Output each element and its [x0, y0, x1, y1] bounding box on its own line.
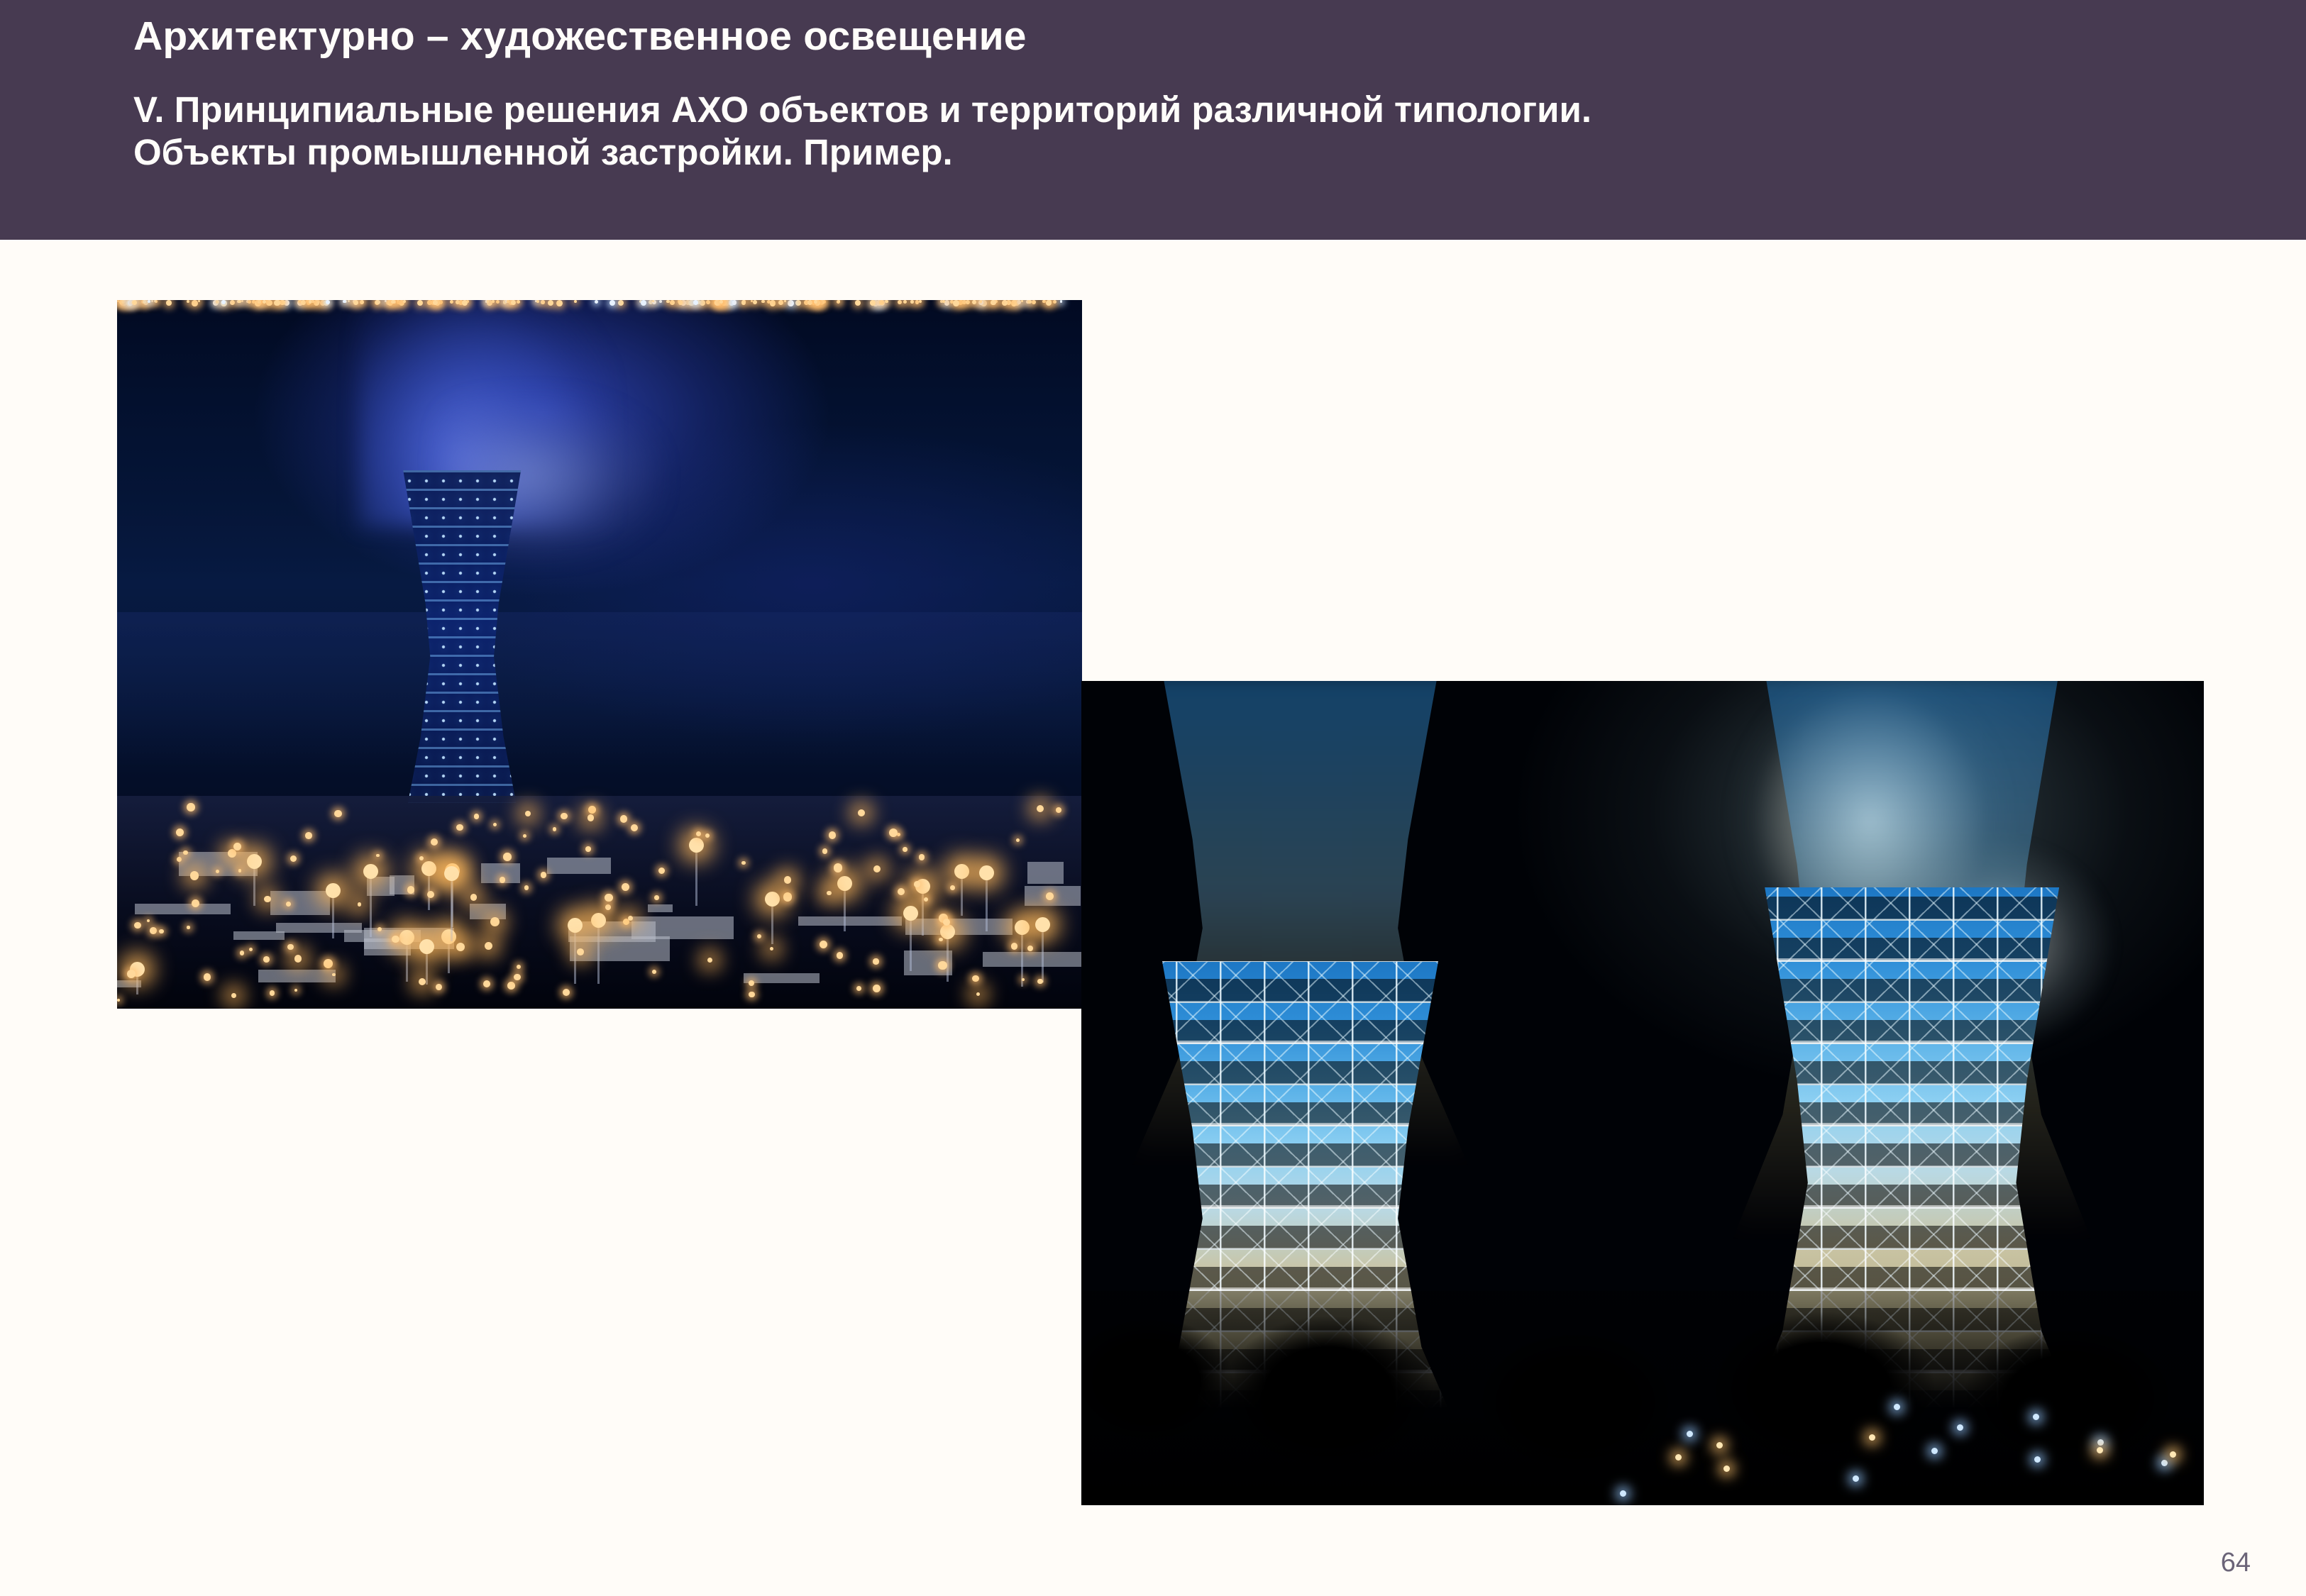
street-light-point: [707, 958, 712, 963]
city-light: [487, 300, 490, 303]
city-light: [609, 300, 615, 306]
city-light: [919, 300, 922, 303]
city-light: [666, 300, 669, 303]
city-light: [706, 300, 710, 304]
street-light-point: [622, 883, 629, 891]
street-light-point: [749, 992, 755, 998]
street-lamp: [370, 872, 372, 937]
street-lamp: [771, 900, 773, 944]
street-lamp: [910, 914, 912, 972]
city-light: [761, 300, 764, 303]
street-light-point: [524, 885, 529, 890]
ground-light: [1869, 1434, 1875, 1441]
street-light-point: [392, 936, 399, 943]
city-light: [314, 300, 319, 306]
city-light: [784, 300, 786, 302]
city-light: [1011, 300, 1017, 306]
city-light: [574, 300, 577, 303]
street-light-point: [485, 942, 492, 950]
street-light-point: [563, 989, 570, 996]
foreground-building: [798, 916, 902, 926]
street-light-point: [976, 992, 980, 996]
city-light: [741, 300, 746, 305]
foreground-building: [135, 904, 231, 914]
street-lamp: [574, 926, 576, 984]
city-light: [391, 300, 395, 304]
foreground-building: [1027, 862, 1063, 884]
city-light: [966, 300, 970, 304]
city-light: [301, 300, 306, 305]
city-light: [258, 300, 261, 304]
street-light-point: [919, 854, 925, 860]
city-light: [385, 300, 387, 302]
street-light-point: [914, 881, 920, 887]
street-light-point: [474, 814, 480, 819]
foreground-building: [258, 970, 336, 982]
city-light: [298, 300, 301, 303]
city-light: [248, 300, 251, 304]
city-light: [778, 300, 783, 305]
street-light-point: [1056, 807, 1061, 813]
street-light-point: [183, 850, 187, 855]
street-light-point: [950, 885, 955, 890]
street-light-point: [238, 869, 241, 872]
street-light-point: [407, 886, 415, 894]
street-light-point: [939, 938, 943, 942]
street-lamp: [136, 970, 138, 994]
street-light-point: [514, 974, 521, 981]
city-light: [284, 300, 289, 306]
street-light-point: [117, 999, 120, 1002]
street-light-point: [972, 975, 978, 982]
city-light: [280, 300, 285, 305]
street-lamp: [961, 872, 963, 916]
city-light: [942, 300, 945, 303]
street-light-point: [249, 948, 253, 951]
street-light-point: [696, 831, 701, 836]
city-light: [659, 300, 662, 303]
city-light: [953, 300, 959, 306]
street-light-point: [783, 892, 792, 901]
street-light-point: [654, 895, 659, 900]
ground-light: [2034, 1456, 2041, 1463]
street-light-point: [264, 896, 270, 902]
city-light: [433, 300, 438, 305]
photo-night-city-cooling-tower: [117, 300, 1082, 1009]
city-light: [795, 300, 801, 306]
city-light: [838, 300, 840, 302]
city-light: [1027, 300, 1031, 304]
city-light: [1053, 300, 1057, 304]
city-light: [343, 300, 346, 303]
city-light: [492, 300, 495, 303]
city-light: [266, 300, 272, 306]
street-light-point: [287, 944, 294, 951]
ground-light: [2170, 1451, 2176, 1458]
city-light: [450, 300, 453, 304]
city-light: [972, 300, 976, 304]
city-light: [753, 300, 757, 304]
slide-title: Архитектурно – художественное освещение: [133, 13, 1027, 60]
street-light-point: [190, 871, 199, 880]
street-light-point: [517, 965, 521, 969]
city-light: [230, 300, 235, 305]
street-light-point: [134, 922, 141, 929]
city-light: [944, 300, 950, 306]
street-light-point: [150, 927, 157, 934]
street-light-point: [873, 958, 878, 964]
ground-light: [1894, 1404, 1900, 1410]
street-light-point: [829, 831, 836, 838]
city-light: [198, 300, 200, 302]
city-light: [807, 300, 812, 305]
city-light: [641, 300, 646, 306]
street-lamp: [253, 863, 255, 906]
street-light-point: [470, 894, 478, 901]
city-light: [166, 300, 172, 306]
city-light: [903, 300, 907, 304]
street-light-point: [577, 948, 584, 955]
street-light-point: [834, 863, 842, 872]
street-light-point: [503, 853, 512, 861]
city-light: [991, 300, 995, 305]
photo-twin-lattice-cooling-towers: [1081, 681, 2204, 1505]
street-lamp: [332, 892, 334, 938]
city-light: [898, 300, 902, 304]
city-light: [556, 300, 563, 306]
street-light-point: [837, 952, 844, 959]
street-light-point: [294, 989, 297, 992]
city-light: [263, 300, 266, 304]
street-light-point: [490, 917, 500, 926]
city-light: [148, 300, 150, 303]
street-lamp: [597, 921, 600, 984]
city-light: [855, 300, 861, 306]
city-light: [1032, 300, 1036, 304]
ground-light: [2161, 1460, 2168, 1466]
page-number: 64: [2221, 1548, 2251, 1578]
foreground-building: [570, 936, 670, 961]
city-light: [1021, 300, 1023, 302]
street-light-point: [456, 824, 463, 831]
slide-subtitle: V. Принципиальные решения АХО объектов и…: [133, 89, 1591, 174]
street-lamp: [406, 938, 408, 982]
street-light-point: [204, 973, 211, 981]
street-light-point: [240, 951, 245, 955]
city-light: [670, 300, 675, 305]
street-lamp: [947, 933, 949, 982]
street-light-point: [427, 891, 434, 898]
city-hillside-glow: [117, 612, 1082, 768]
street-light-point: [585, 846, 591, 852]
city-light: [910, 300, 914, 304]
slide-subtitle-line-1: V. Принципиальные решения АХО объектов и…: [133, 89, 1591, 131]
foreground-building: [983, 952, 1082, 967]
street-light-point: [305, 832, 312, 839]
city-light: [814, 300, 817, 304]
city-light: [348, 300, 350, 302]
city-light: [700, 300, 705, 306]
street-light-point: [1016, 838, 1020, 842]
city-light: [1060, 300, 1063, 303]
city-light: [1002, 300, 1008, 306]
city-light: [770, 300, 776, 306]
city-light: [353, 300, 358, 305]
street-light-point: [1037, 979, 1042, 984]
city-light: [678, 300, 683, 305]
street-lamp: [844, 885, 846, 931]
street-light-point: [856, 986, 861, 991]
city-light: [732, 300, 737, 305]
city-light: [187, 300, 189, 303]
foreground-building: [270, 891, 329, 915]
street-light-point: [541, 872, 546, 877]
street-lamp: [448, 938, 450, 974]
city-light: [151, 300, 153, 302]
city-light: [885, 300, 888, 303]
ground-light: [1853, 1475, 1859, 1482]
street-light-point: [523, 834, 526, 838]
street-light-point: [263, 956, 270, 963]
city-light: [1042, 300, 1045, 303]
city-light: [309, 300, 312, 304]
city-light: [375, 300, 380, 304]
street-light-point: [187, 926, 189, 929]
street-light-point: [294, 955, 302, 962]
street-light-point: [605, 894, 613, 902]
street-light-point: [757, 934, 761, 938]
street-light-point: [324, 959, 333, 968]
street-light-point: [187, 803, 195, 811]
city-light: [980, 300, 983, 303]
street-light-point: [652, 970, 656, 974]
street-light-point: [903, 847, 907, 851]
street-light-point: [377, 927, 382, 931]
city-light: [879, 300, 884, 305]
foreground-building: [233, 931, 284, 940]
street-light-point: [436, 984, 442, 990]
slide-subtitle-line-2: Объекты промышленной застройки. Пример.: [133, 131, 1591, 174]
street-light-point: [231, 993, 236, 998]
slide-header-bar: Архитектурно – художественное освещение …: [0, 0, 2306, 240]
city-light: [192, 300, 198, 306]
street-light-point: [216, 870, 219, 873]
city-light: [496, 300, 500, 304]
foreground-building: [744, 973, 820, 983]
ground-light: [1723, 1465, 1730, 1472]
city-light: [132, 300, 137, 305]
street-lamp: [986, 874, 988, 931]
city-light: [1046, 300, 1052, 306]
street-light-point: [286, 902, 291, 907]
city-light: [820, 300, 824, 304]
street-light-point: [741, 861, 746, 865]
city-light: [221, 300, 226, 304]
city-light: [618, 300, 624, 306]
street-lamp: [428, 870, 430, 910]
street-light-point: [1022, 978, 1025, 981]
street-light-point: [605, 904, 611, 910]
street-light-point: [938, 961, 947, 970]
city-light: [326, 300, 330, 304]
city-light: [541, 300, 545, 304]
street-light-point: [561, 813, 567, 819]
foreground-building: [470, 904, 506, 919]
treeline-silhouette: [1081, 1291, 2204, 1505]
city-light: [311, 300, 314, 303]
street-light-point: [822, 848, 828, 854]
city-light: [241, 300, 243, 302]
street-lamp: [426, 948, 428, 985]
city-light: [238, 300, 241, 303]
street-lamp: [922, 887, 924, 936]
city-light: [216, 300, 219, 304]
city-light: [274, 300, 280, 306]
street-light-point: [873, 865, 881, 872]
foreground-building: [547, 858, 611, 875]
street-light-point: [176, 829, 184, 836]
street-lamp: [451, 875, 453, 941]
city-light: [788, 300, 794, 306]
street-lamp: [695, 846, 697, 906]
city-light: [693, 300, 698, 305]
foreground-building: [648, 904, 673, 912]
street-lamp: [1042, 926, 1044, 982]
street-light-point: [827, 891, 832, 896]
